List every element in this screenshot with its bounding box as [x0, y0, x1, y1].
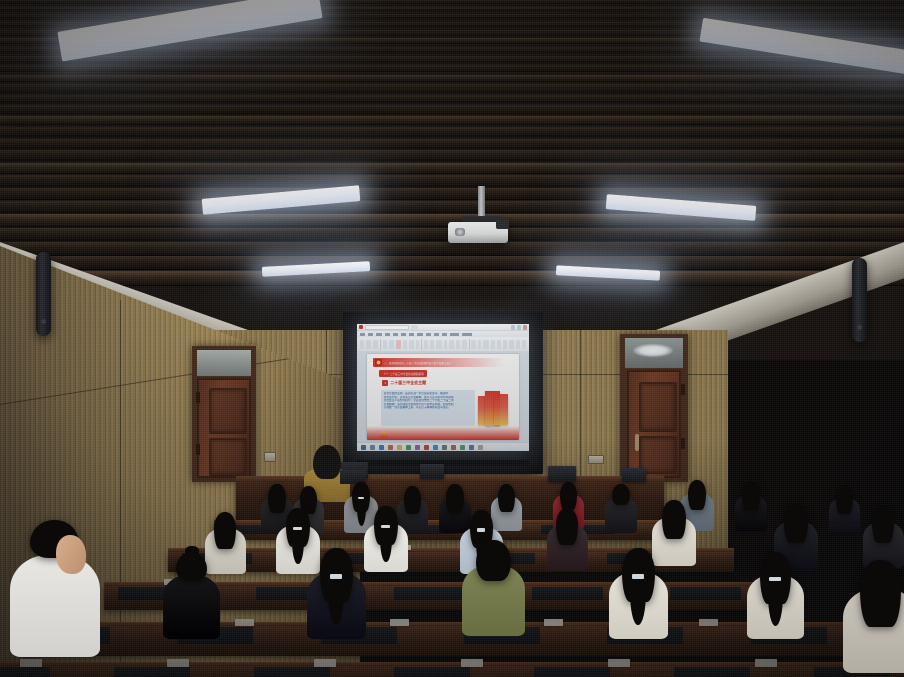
paper-sheet: [167, 659, 189, 667]
audience-member-hair: [268, 484, 286, 513]
ribbon-button[interactable]: [424, 340, 428, 349]
book-front: [494, 394, 508, 425]
ceiling-slat: [0, 188, 904, 199]
ribbon-button[interactable]: [462, 340, 467, 349]
audience-member-hair: [688, 480, 706, 510]
current-slide: 一、深刻领悟党的二十届三中全会精神的核心要义及重大意义 （一）二十届三中全会的主…: [367, 354, 519, 440]
taskbar-app-icon[interactable]: [424, 445, 429, 450]
audience-member-hair: [446, 484, 464, 513]
projection-surface: 一、深刻领悟党的二十届三中全会精神的核心要义及重大意义 （一）二十届三中全会的主…: [357, 324, 529, 451]
projector-pole: [478, 186, 485, 220]
ceiling-slat: [0, 256, 904, 269]
paper-sheet: [314, 659, 336, 667]
paper-sheet: [755, 659, 777, 667]
audience-member-torso: [163, 575, 220, 639]
menu-item[interactable]: [360, 333, 365, 336]
taskbar-app-icon[interactable]: [469, 445, 474, 450]
desk-panel: [254, 667, 330, 677]
door-leaf-right[interactable]: [627, 370, 681, 478]
audience-member-hair: [872, 506, 894, 543]
audience-member-hair: [556, 508, 578, 545]
ribbon-button[interactable]: [360, 340, 364, 349]
audience-member-hair: [836, 486, 853, 514]
paper-sheet: [608, 659, 630, 667]
app-tab-new[interactable]: [411, 325, 418, 330]
wall-seam: [120, 300, 121, 677]
menu-item[interactable]: [417, 333, 422, 336]
ponytail: [357, 499, 366, 526]
taskbar-app-icon[interactable]: [442, 445, 447, 450]
door-panel: [209, 388, 247, 434]
ceiling-slat: [0, 7, 904, 10]
slide-body-text-box: 这次全会的主题，是研究进一步全面深化改革、推进中国式现代化。贯彻落实全会精神，要…: [381, 390, 475, 426]
audience-member-hair: [176, 552, 207, 581]
door-hinge: [196, 392, 200, 403]
ribbon-button[interactable]: [430, 340, 434, 349]
ribbon-separator: [469, 339, 470, 350]
wall-speaker-left: [36, 252, 51, 336]
ceiling-slat: [0, 84, 904, 91]
audience-member-hair: [476, 540, 511, 581]
ribbon-separator: [421, 339, 422, 350]
audience-member-hair: [784, 504, 808, 543]
ribbon-button[interactable]: [483, 340, 489, 349]
desk-panel: [532, 587, 603, 600]
ribbon-button[interactable]: [522, 340, 526, 349]
audience-member-hair: [662, 500, 686, 539]
window-maximize-icon[interactable]: [517, 325, 521, 330]
slide-title-text: 二十届三中全会主题: [390, 380, 426, 386]
ribbon-button[interactable]: [516, 340, 520, 349]
ribbon-button[interactable]: [396, 340, 400, 349]
ceiling-slat: [0, 242, 904, 255]
taskbar-app-icon[interactable]: [460, 445, 465, 450]
menu-item[interactable]: [368, 333, 373, 336]
desk-panel: [670, 587, 741, 600]
hair-clip-icon: [293, 527, 302, 530]
app-tab-active[interactable]: [365, 325, 409, 330]
ribbon-button[interactable]: [497, 340, 501, 349]
app-titlebar: [357, 324, 529, 331]
door-handle-icon[interactable]: [635, 434, 639, 451]
audience-member-hair: [498, 484, 515, 512]
ceiling-slat: [0, 65, 904, 71]
window-minimize-icon[interactable]: [511, 325, 515, 330]
wall-outlet-plate-left[interactable]: [264, 452, 276, 462]
ceiling-slat: [0, 0, 904, 3]
taskbar-app-icon[interactable]: [370, 445, 375, 450]
taskbar-app-icon[interactable]: [397, 445, 402, 450]
menu-item[interactable]: [385, 333, 390, 336]
hair-clip-icon: [358, 497, 365, 500]
menu-item[interactable]: [442, 333, 447, 336]
os-taskbar[interactable]: [357, 442, 529, 451]
ribbon-button[interactable]: [471, 340, 475, 349]
ribbon-button[interactable]: [383, 340, 387, 349]
ribbon-button[interactable]: [403, 340, 407, 349]
taskbar-app-icon[interactable]: [379, 445, 384, 450]
hair-clip-icon: [330, 574, 342, 579]
door-panel: [639, 382, 677, 432]
desk-panel: [394, 587, 465, 600]
hair-clip-icon: [632, 574, 644, 579]
audience-member-face: [56, 535, 87, 574]
podium-monitor-3: [548, 466, 576, 482]
audience-member-hair: [404, 486, 421, 514]
taskbar-app-icon[interactable]: [478, 445, 483, 450]
party-emblem-icon: [375, 359, 382, 366]
ribbon-button[interactable]: [366, 340, 370, 349]
ceiling-slat: [0, 150, 904, 160]
door-hinge: [681, 438, 685, 449]
slide-footer-decoration: [367, 426, 519, 440]
slide-subheading-text: （一）二十届三中全会的主题和基调: [382, 372, 424, 376]
footer-monument-icon: [379, 431, 388, 438]
window-close-icon[interactable]: [523, 325, 527, 330]
ribbon-button[interactable]: [478, 340, 482, 349]
ribbon-button[interactable]: [389, 340, 395, 349]
ceiling-slat: [0, 201, 904, 212]
desk-panel: [394, 667, 470, 677]
desk-panel: [114, 667, 190, 677]
door-panel: [209, 438, 247, 476]
desk-panel: [674, 667, 750, 677]
hair-clip-icon: [769, 577, 780, 581]
taskbar-app-icon[interactable]: [406, 445, 411, 450]
door-transom-left: [197, 350, 251, 376]
door-leaf-left[interactable]: [197, 378, 251, 478]
taskbar-app-icon[interactable]: [451, 445, 456, 450]
app-ribbon-toolbar[interactable]: [357, 337, 529, 352]
projector-lens-icon: [455, 228, 465, 236]
projector-bracket: [496, 219, 509, 229]
paper-sheet: [544, 619, 563, 626]
ceiling-slat: [0, 14, 904, 18]
ribbon-button[interactable]: [491, 340, 495, 349]
paper-sheet: [390, 619, 409, 626]
ribbon-button[interactable]: [503, 340, 507, 349]
ribbon-button[interactable]: [449, 340, 453, 349]
hair-clip-icon: [381, 525, 390, 528]
ribbon-separator: [380, 339, 381, 350]
ceiling-slat: [0, 271, 904, 285]
slide-header-text: 一、深刻领悟党的二十届三中全会精神的核心要义及重大意义: [384, 361, 451, 365]
ceiling-slat: [0, 116, 904, 124]
hair-clip-icon: [477, 528, 485, 531]
ceiling-slat: [0, 163, 904, 173]
slide-body-line: 行动统一到全会精神上来，以钉钉子精神抓好改革落实。: [384, 406, 472, 410]
menu-item[interactable]: [426, 333, 431, 336]
ribbon-button[interactable]: [444, 340, 448, 349]
audience-member-hair: [860, 560, 901, 627]
audience-member-hair: [560, 482, 577, 510]
menu-item[interactable]: [401, 333, 406, 336]
ceiling-slat: [0, 105, 904, 113]
slide-title-row: 1 二十届三中全会主题: [382, 380, 426, 386]
ribbon-button[interactable]: [436, 340, 442, 349]
menu-item[interactable]: [462, 333, 471, 336]
audience-member-hair: [612, 484, 630, 505]
paper-sheet: [699, 619, 718, 626]
paper-sheet: [235, 619, 254, 626]
ribbon-button[interactable]: [409, 340, 414, 349]
ribbon-button[interactable]: [373, 340, 379, 349]
ribbon-button[interactable]: [456, 340, 460, 349]
paper-sheet: [20, 659, 42, 667]
menu-item[interactable]: [393, 333, 398, 336]
lecture-hall-photo: 一、深刻领悟党的二十届三中全会精神的核心要义及重大意义 （一）二十届三中全会的主…: [0, 0, 904, 677]
slide-header-banner: 一、深刻领悟党的二十届三中全会精神的核心要义及重大意义: [373, 358, 504, 367]
menu-item[interactable]: [450, 333, 459, 336]
app-logo-icon: [359, 325, 363, 329]
taskbar-app-icon[interactable]: [415, 445, 420, 450]
ceiling-slat: [0, 75, 904, 82]
slide-editing-area[interactable]: 一、深刻领悟党的二十届三中全会精神的核心要义及重大意义 （一）二十届三中全会的主…: [357, 352, 529, 442]
menu-item[interactable]: [434, 333, 439, 336]
taskbar-app-icon[interactable]: [433, 445, 438, 450]
slide-title-number: 1: [382, 380, 388, 386]
taskbar-app-icon[interactable]: [361, 445, 366, 450]
presenter-hair: [313, 445, 341, 479]
ceiling-slat: [0, 175, 904, 186]
desk-panel: [534, 667, 610, 677]
taskbar-app-icon[interactable]: [388, 445, 393, 450]
slide-subheading-chip: （一）二十届三中全会的主题和基调: [379, 370, 427, 377]
audience-member-torso: [10, 555, 100, 657]
menu-item[interactable]: [409, 333, 414, 336]
podium-monitor-2: [420, 464, 444, 479]
transom-ceiling-lamp-icon: [633, 344, 673, 357]
desk-panel: [0, 667, 50, 677]
slide-book-graphic: [478, 388, 508, 428]
wall-speaker-right: [852, 258, 867, 342]
ceiling-slat: [0, 95, 904, 103]
ceiling-slat: [0, 127, 904, 136]
audience-member-hair: [742, 482, 760, 511]
menu-item[interactable]: [376, 333, 381, 336]
door-hinge: [196, 444, 200, 455]
ceiling-slat: [0, 56, 904, 62]
podium-monitor-4: [622, 468, 646, 482]
ribbon-button[interactable]: [509, 340, 514, 349]
paper-sheet: [461, 659, 483, 667]
wall-switch-plate-right[interactable]: [588, 455, 604, 464]
projection-screen: 一、深刻领悟党的二十届三中全会精神的核心要义及重大意义 （一）二十届三中全会的主…: [343, 312, 543, 474]
door-hinge: [681, 384, 685, 395]
ribbon-button[interactable]: [416, 340, 420, 349]
audience-member-hair: [214, 512, 236, 549]
ceiling-slat: [0, 139, 904, 148]
